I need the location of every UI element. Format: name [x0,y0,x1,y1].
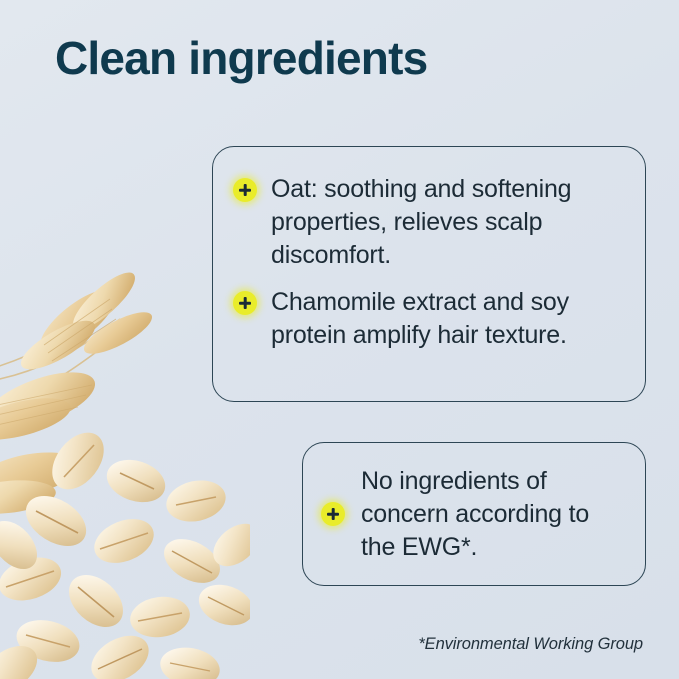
ingredients-bullet-list: Oat: soothing and softening properties, … [233,173,621,352]
plus-badge-icon [233,178,257,202]
list-item-label: Oat: soothing and softening properties, … [271,173,621,272]
ingredients-card: Oat: soothing and softening properties, … [212,146,646,402]
list-item-label: Chamomile extract and soy protein amplif… [271,286,621,352]
ewg-card: No ingredients of concern according to t… [302,442,646,586]
poster-canvas: Clean ingredients Oat: soothing and soft… [0,0,679,679]
list-item-label: No ingredients of concern according to t… [361,465,623,564]
page-title: Clean ingredients [55,33,427,85]
plus-badge-icon [321,502,345,526]
list-item: Chamomile extract and soy protein amplif… [233,286,621,352]
list-item: No ingredients of concern according to t… [321,465,623,564]
list-item: Oat: soothing and softening properties, … [233,173,621,272]
plus-badge-icon [233,291,257,315]
footnote: *Environmental Working Group [418,635,643,654]
